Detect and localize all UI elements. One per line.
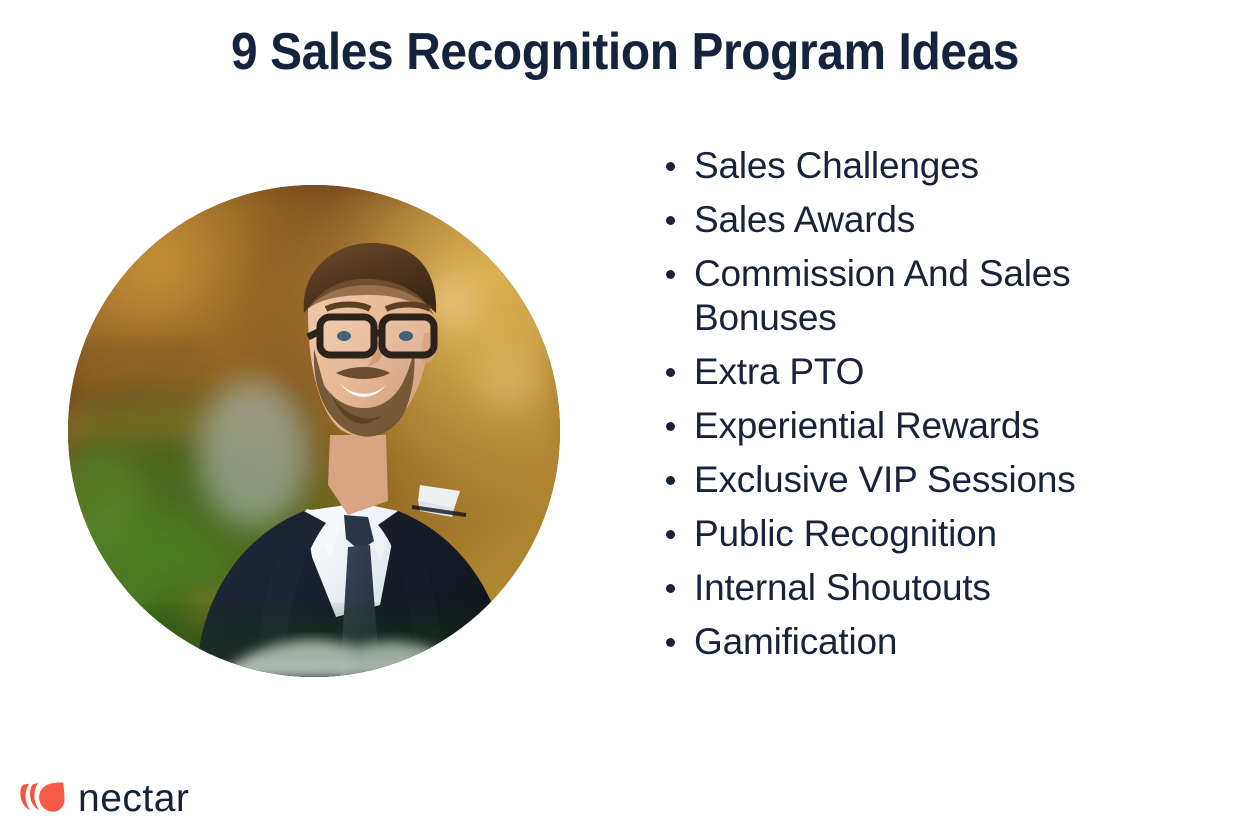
bullet-icon (666, 476, 675, 485)
list-item: Public Recognition (660, 512, 1130, 556)
list-item: Internal Shoutouts (660, 566, 1130, 610)
list-item-label: Sales Challenges (694, 145, 979, 186)
list-item: Sales Awards (660, 198, 1130, 242)
list-item-label: Public Recognition (694, 513, 997, 554)
list-item-label: Gamification (694, 621, 897, 662)
list-item: Gamification (660, 620, 1130, 664)
logo-wordmark: nectar (78, 779, 189, 818)
bullet-icon (666, 270, 675, 279)
bullet-icon (666, 368, 675, 377)
bullet-icon (666, 162, 675, 171)
list-item-label: Internal Shoutouts (694, 567, 991, 608)
list-item: Experiential Rewards (660, 404, 1130, 448)
list-item-label: Extra PTO (694, 351, 864, 392)
bullet-icon (666, 638, 675, 647)
list-item-label: Commission And Sales Bonuses (694, 253, 1070, 338)
list-item-label: Exclusive VIP Sessions (694, 459, 1076, 500)
list-item-label: Experiential Rewards (694, 405, 1040, 446)
list-item: Sales Challenges (660, 144, 1130, 188)
bullet-icon (666, 584, 675, 593)
recognition-ideas-list: Sales Challenges Sales Awards Commission… (660, 144, 1130, 664)
list-item: Commission And Sales Bonuses (660, 252, 1130, 340)
bullet-icon (666, 422, 675, 431)
nectar-petals-icon (18, 780, 66, 817)
list-item-label: Sales Awards (694, 199, 915, 240)
portrait-photo (68, 185, 560, 677)
bullet-icon (666, 530, 675, 539)
bullet-icon (666, 216, 675, 225)
page-title: 9 Sales Recognition Program Ideas (50, 24, 1200, 80)
list-item: Extra PTO (660, 350, 1130, 394)
infographic-page: 9 Sales Recognition Program Ideas (0, 0, 1250, 833)
nectar-logo[interactable]: nectar (18, 779, 189, 818)
list-item: Exclusive VIP Sessions (660, 458, 1130, 502)
